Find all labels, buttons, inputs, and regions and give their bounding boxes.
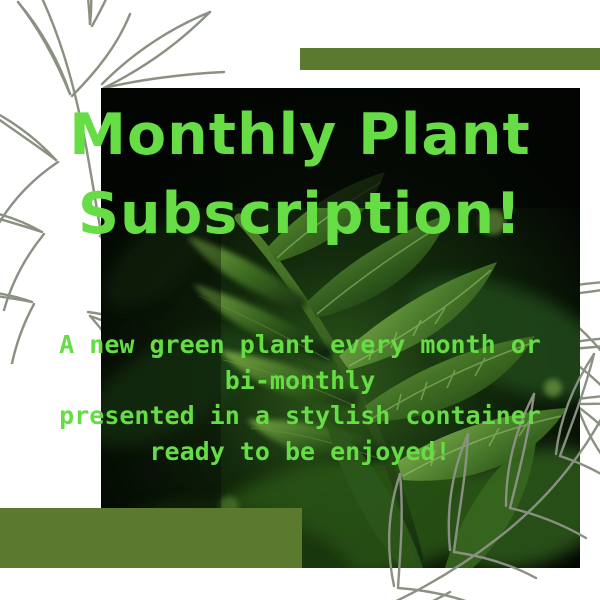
olive-accent-bar-bottom [0,508,302,568]
poster-body-copy: A new green plant every month or bi-mont… [0,327,600,469]
olive-accent-bar-top [300,48,600,70]
poster-canvas: Monthly Plant Subscription! A new green … [0,0,600,600]
poster-headline: Monthly Plant Subscription! [0,96,600,253]
